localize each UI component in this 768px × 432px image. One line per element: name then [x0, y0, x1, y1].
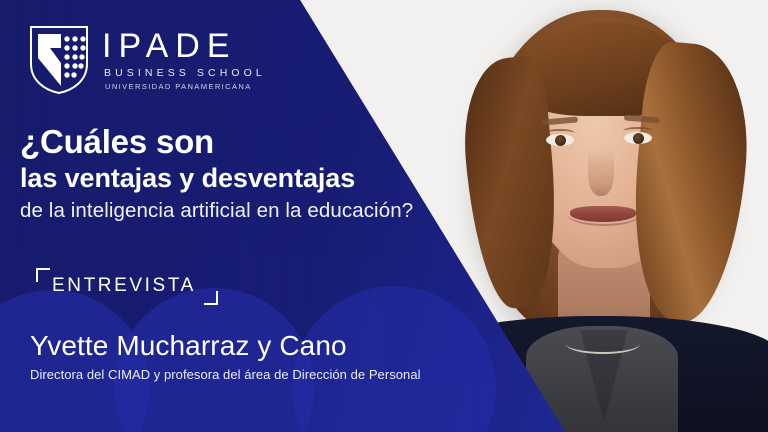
video-thumbnail-card: IPADE BUSINESS SCHOOL UNIVERSIDAD PANAME… — [0, 0, 768, 432]
speaker-name: Yvette Mucharraz y Cano — [30, 330, 421, 362]
lips — [570, 206, 636, 222]
nose — [588, 148, 614, 196]
headline-line-1: ¿Cuáles son — [20, 124, 413, 160]
entrevista-badge: ENTREVISTA — [36, 268, 218, 305]
entrevista-badge-wrap: ENTREVISTA — [36, 268, 218, 305]
bracket-top-left-icon — [36, 268, 50, 282]
eyelid-right — [623, 127, 653, 135]
necklace — [566, 334, 640, 354]
logo-wordmark: IPADE BUSINESS SCHOOL UNIVERSIDAD PANAME… — [102, 29, 266, 91]
speaker-role: Directora del CIMAD y profesora del área… — [30, 367, 421, 382]
entrevista-label: ENTREVISTA — [52, 275, 196, 296]
ipade-shield-icon — [28, 24, 90, 96]
bracket-bottom-right-icon — [204, 291, 218, 305]
logo-university: UNIVERSIDAD PANAMERICANA — [102, 82, 266, 91]
eyelid-left — [545, 129, 575, 137]
logo-name: IPADE — [102, 29, 266, 64]
ipade-logo: IPADE BUSINESS SCHOOL UNIVERSIDAD PANAME… — [28, 24, 266, 96]
headline-line-2: las ventajas y desventajas — [20, 162, 413, 194]
speaker-block: Yvette Mucharraz y Cano Directora del CI… — [30, 330, 421, 382]
logo-tagline: BUSINESS SCHOOL — [102, 67, 266, 79]
headline-line-3: de la inteligencia artificial en la educ… — [20, 198, 413, 225]
headline-block: ¿Cuáles son las ventajas y desventajas d… — [20, 124, 413, 225]
